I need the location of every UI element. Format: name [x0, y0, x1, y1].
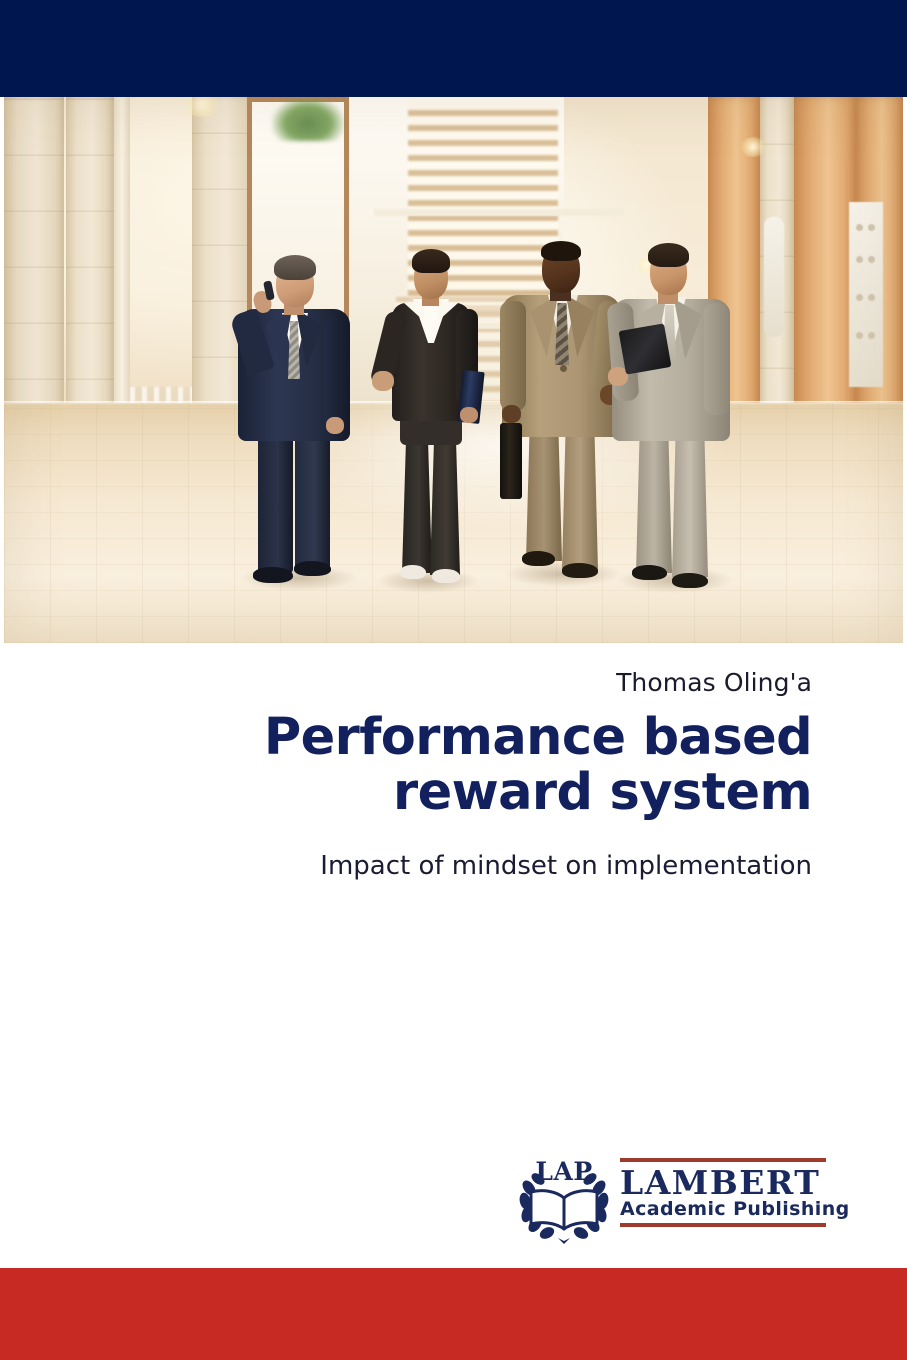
wall-directory-panel: [849, 202, 883, 387]
cover-photo: [4, 97, 903, 643]
wall-sign-plate: [764, 217, 784, 337]
book-subtitle: Impact of mindset on implementation: [92, 851, 812, 881]
hair: [648, 243, 689, 267]
publisher-name: LAMBERT: [620, 1166, 826, 1199]
black-portfolio: [619, 323, 672, 374]
logo-rule-top: [620, 1158, 826, 1162]
publisher-tagline: Academic Publishing: [620, 1200, 826, 1219]
panel-dot: [868, 294, 875, 301]
publisher-wordmark: LAMBERT Academic Publishing: [620, 1158, 826, 1227]
leg: [636, 435, 672, 573]
book-title: Performance based reward system: [92, 711, 812, 820]
person-woman-gesturing: [372, 243, 488, 579]
hand-open: [372, 371, 394, 391]
shoe: [400, 565, 426, 579]
person-man-grey-suit: [604, 241, 740, 577]
leg: [672, 435, 708, 577]
column-right-c: [794, 97, 856, 425]
publisher-logo: LAP LAMBERT Academic Publishing: [516, 1152, 826, 1248]
hand: [326, 417, 344, 434]
shoe: [294, 561, 331, 576]
shoe: [522, 551, 555, 566]
briefcase: [500, 423, 522, 499]
hair: [274, 255, 316, 280]
leg: [258, 432, 293, 574]
arm-in-pocket: [704, 303, 730, 415]
svg-text:LAP: LAP: [535, 1157, 592, 1186]
photo-stage: [4, 97, 903, 643]
logo-rule-bottom: [620, 1223, 826, 1227]
column-left-a: [66, 97, 114, 436]
lap-open-book-laurel-icon: LAP: [516, 1154, 612, 1246]
hand: [502, 405, 521, 423]
panel-dot: [856, 294, 863, 301]
author-name: Thomas Oling'a: [616, 668, 812, 697]
leg: [402, 433, 432, 573]
shoe: [562, 563, 598, 578]
panel-dot: [868, 332, 875, 339]
hair: [541, 241, 581, 261]
panel-dot: [856, 332, 863, 339]
plant-foliage: [272, 97, 344, 141]
column-far-left: [4, 97, 64, 436]
glass-rail-upper: [374, 209, 624, 216]
leg: [562, 429, 598, 571]
shoe: [672, 573, 708, 588]
panel-dot: [868, 256, 875, 263]
shoe: [432, 569, 460, 583]
shoe: [632, 565, 667, 580]
panel-dot: [868, 224, 875, 231]
person-man-on-phone: [232, 247, 362, 577]
hair: [412, 249, 450, 273]
book-title-line-2: system: [610, 763, 812, 822]
top-navy-band: [0, 0, 907, 97]
hand: [460, 407, 478, 423]
ceiling-lamp: [740, 137, 766, 157]
leg: [430, 433, 460, 575]
arm-with-briefcase: [500, 301, 526, 411]
column-left-b: [114, 97, 130, 403]
bottom-red-band: [0, 1268, 907, 1360]
arm-down: [324, 317, 350, 425]
shoe: [253, 567, 293, 583]
leg: [295, 432, 330, 572]
panel-dot: [856, 224, 863, 231]
leg: [526, 429, 562, 561]
jacket-button: [560, 365, 567, 372]
panel-dot: [856, 256, 863, 263]
